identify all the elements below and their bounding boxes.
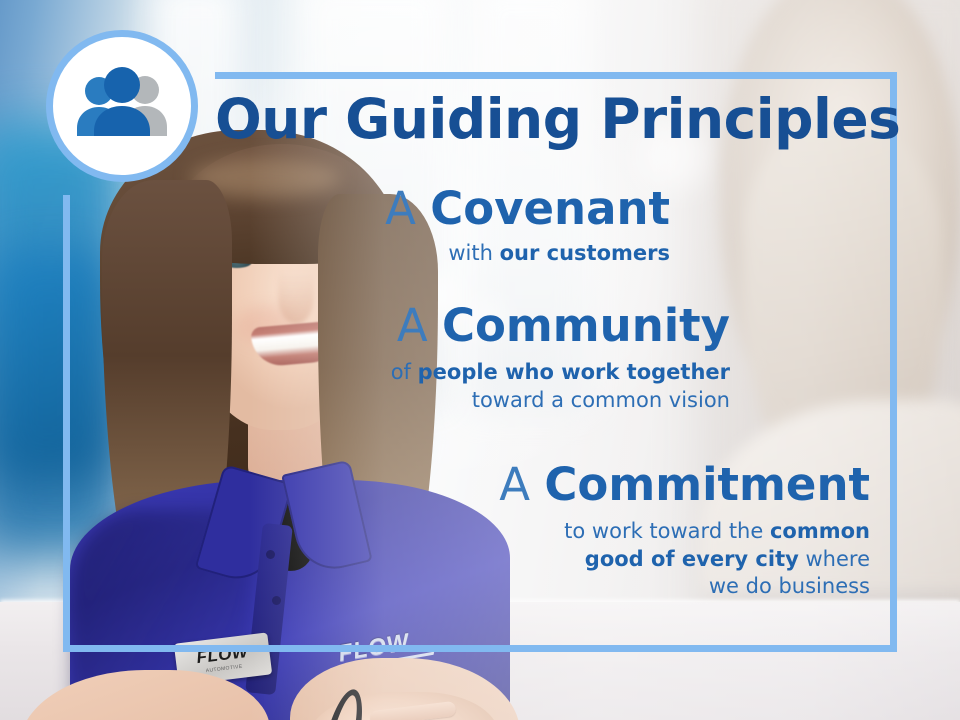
principle-article: A — [385, 182, 416, 235]
principle-article: A — [397, 299, 428, 352]
principle-word: Covenant — [430, 182, 670, 235]
principle-subtext: with our customers — [240, 240, 670, 268]
principle-heading: A Commitment — [260, 462, 870, 508]
people-group-icon — [70, 66, 174, 146]
principle-block-covenant: A Covenant with our customers — [240, 186, 670, 268]
principle-block-commitment: A Commitment to work toward the commongo… — [260, 462, 870, 601]
people-group-icon-badge — [46, 30, 198, 182]
principle-word: Commitment — [544, 458, 870, 511]
principle-heading: A Covenant — [240, 186, 670, 232]
page-title: Our Guiding Principles — [215, 92, 900, 147]
principle-block-community: A Community of people who work togethert… — [240, 303, 730, 414]
principle-word: Community — [442, 299, 730, 352]
principle-heading: A Community — [240, 303, 730, 349]
guiding-principles-graphic: FLOW AUTOMOTIVE FLOW — [0, 0, 960, 720]
principle-article: A — [499, 458, 530, 511]
principle-subtext: of people who work togethertoward a comm… — [240, 359, 730, 414]
principle-subtext: to work toward the commongood of every c… — [260, 518, 870, 601]
